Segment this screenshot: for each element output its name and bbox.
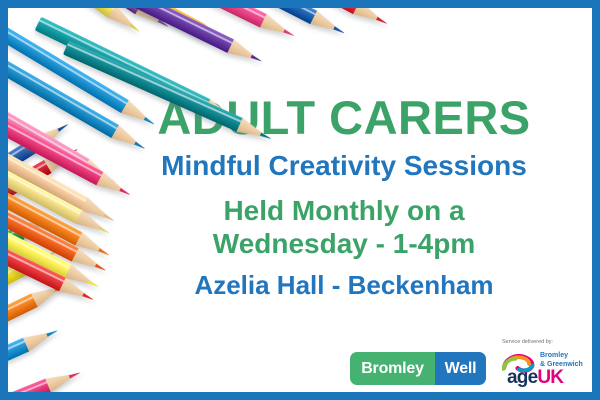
pencil-barrel xyxy=(8,173,71,278)
pencil-wood xyxy=(260,14,288,38)
pencil xyxy=(60,8,235,53)
pencil-barrel xyxy=(8,109,82,224)
pencil-wood xyxy=(72,248,100,272)
pencil-wood xyxy=(227,39,255,63)
pencil xyxy=(8,89,117,227)
pencil-wood xyxy=(107,8,135,31)
pencil xyxy=(236,8,390,30)
pencil-barrel xyxy=(8,153,79,262)
pencil xyxy=(8,118,72,237)
ageuk-word-uk: UK xyxy=(537,367,563,388)
pencil-wood xyxy=(75,232,103,257)
poster-venue: Azelia Hall - Beckenham xyxy=(104,272,584,298)
pencil-barrel xyxy=(8,45,89,172)
bromley-well-logo-left: Bromley xyxy=(350,352,435,385)
pencil-barrel xyxy=(8,8,143,14)
ageuk-region-line-1: Bromley xyxy=(540,352,583,361)
pencil-tip xyxy=(219,35,236,53)
ageuk-wordmark: ageUK xyxy=(507,368,563,387)
pencil-barrel xyxy=(8,17,119,138)
service-delivered-by-label: Service delivered by: xyxy=(502,339,592,345)
pencil-tip xyxy=(44,324,60,342)
pencil-barrel xyxy=(34,8,171,21)
pencil-tip xyxy=(281,24,297,42)
ageuk-logo: Bromley & Greenwich ageUK xyxy=(502,348,592,386)
pencil-tip xyxy=(64,143,81,161)
pencil xyxy=(8,245,60,349)
pencil xyxy=(193,8,348,40)
pencil-wood xyxy=(135,8,163,27)
pencil-wood xyxy=(198,24,226,49)
pencil-barrel xyxy=(8,193,66,292)
pencil-barrel xyxy=(8,89,88,211)
pencil-wood xyxy=(164,8,192,33)
pencil xyxy=(8,143,81,271)
pencil-barrel xyxy=(8,260,29,349)
ageuk-logo-lockup: Service delivered by: Bromley & Greenwic… xyxy=(502,339,592,389)
pencil-wood xyxy=(65,265,93,289)
pencil xyxy=(8,45,119,189)
pencil-barrel xyxy=(8,136,43,237)
pencil-barrel xyxy=(236,8,360,14)
pencil xyxy=(91,8,265,68)
pencil-tip xyxy=(373,12,390,30)
pencil-tip xyxy=(154,14,171,33)
poster-schedule: Held Monthly on a Wednesday - 1-4pm xyxy=(104,194,584,260)
pencil-wood xyxy=(353,8,381,25)
pencil-wood xyxy=(31,283,59,307)
pencil xyxy=(8,109,112,240)
ageuk-word-age: age xyxy=(507,367,537,388)
pencil-wood xyxy=(75,210,103,235)
pencil-tip xyxy=(67,366,83,384)
pencil-wood xyxy=(18,215,46,240)
pencil-barrel xyxy=(8,67,103,185)
pencil-wood xyxy=(23,250,51,274)
pencil xyxy=(8,279,68,384)
pencil-barrel xyxy=(60,8,205,37)
pencil-barrel xyxy=(8,293,38,383)
pencil xyxy=(8,8,144,37)
pencil-tip xyxy=(43,245,60,263)
pencil xyxy=(8,366,82,392)
pencil-wood xyxy=(59,278,87,302)
pencil-wood xyxy=(310,11,338,35)
pencil-barrel xyxy=(8,160,51,271)
pencil-wood xyxy=(23,328,51,351)
pencil-tip xyxy=(52,279,68,297)
pencil-tip xyxy=(126,19,144,38)
pencil-barrel xyxy=(8,131,82,246)
pencil xyxy=(8,131,112,262)
pencil-wood xyxy=(35,123,63,148)
pencil xyxy=(8,173,102,294)
pencil xyxy=(8,193,96,306)
pencil-barrel xyxy=(91,8,234,53)
poster-text-block: ADULT CARERS Mindful Creativity Sessions… xyxy=(104,94,584,298)
poster-canvas: ADULT CARERS Mindful Creativity Sessions… xyxy=(8,8,592,392)
pencil-tip xyxy=(80,288,96,306)
pencil-wood xyxy=(45,370,73,392)
pencil xyxy=(8,324,60,392)
pencil xyxy=(8,210,55,315)
pencil-tip xyxy=(248,49,264,67)
pencil-barrel xyxy=(8,338,29,392)
pencil-tip xyxy=(54,118,71,137)
poster-root: ADULT CARERS Mindful Creativity Sessions… xyxy=(0,0,600,400)
pencil-tip xyxy=(184,20,201,38)
pencil xyxy=(147,8,297,42)
pencil xyxy=(8,153,109,277)
pencil-wood xyxy=(44,148,72,173)
bromley-well-logo-right: Well xyxy=(435,352,486,385)
bromley-well-logo: Bromley Well xyxy=(350,352,486,385)
pencil-barrel xyxy=(193,8,317,24)
pencil-barrel xyxy=(8,8,116,17)
pencil xyxy=(34,8,201,38)
pencil-barrel xyxy=(8,226,25,315)
pencil-barrel xyxy=(147,8,267,27)
pencil-tip xyxy=(38,210,55,228)
pencil-tip xyxy=(331,21,348,39)
pencil-tip xyxy=(85,275,102,293)
schedule-line-2: Wednesday - 1-4pm xyxy=(104,227,584,260)
page-title: ADULT CARERS xyxy=(104,94,584,141)
schedule-line-1: Held Monthly on a xyxy=(104,194,584,227)
poster-subheading: Mindful Creativity Sessions xyxy=(104,152,584,180)
pencil xyxy=(8,8,172,33)
pencil-barrel xyxy=(8,379,51,392)
